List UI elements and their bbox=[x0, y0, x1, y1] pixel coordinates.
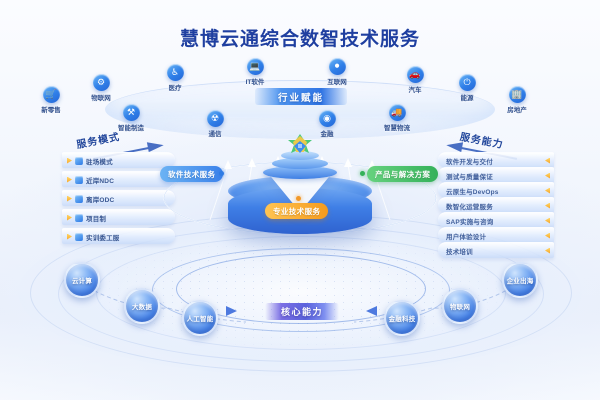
bullet-arrow-icon bbox=[545, 158, 550, 164]
signal-tower-icon: ☢ bbox=[207, 110, 224, 127]
tag-connector-dot-bottom bbox=[296, 196, 301, 201]
bullet-arrow-icon bbox=[545, 248, 550, 254]
building-icon: 🏢 bbox=[509, 86, 526, 103]
industry-node-smart-logistics[interactable]: 🚚 智慧物流 bbox=[370, 104, 424, 132]
tag-software-technical-service[interactable]: 软件技术服务 bbox=[160, 166, 223, 182]
puzzle-star-icon bbox=[285, 132, 315, 160]
location-icon bbox=[75, 176, 83, 184]
page-title: 慧博云通综合数智技术服务 bbox=[0, 24, 600, 51]
graduation-icon bbox=[75, 233, 83, 241]
truck-icon: 🚚 bbox=[389, 104, 406, 121]
service-capabilities-panel: 服务能力 软件开发与交付 测试与质量保证 云原生与DevOps 数智化运营服务 bbox=[438, 132, 550, 254]
stethoscope-icon: ♿ bbox=[167, 64, 184, 81]
bullet-arrow-icon bbox=[67, 215, 72, 221]
globe-icon bbox=[75, 195, 83, 203]
service-model-label: 项目制 bbox=[86, 213, 106, 223]
core-capability-banner: 核心能力 bbox=[265, 303, 339, 320]
service-model-label: 实训委工服 bbox=[86, 232, 120, 242]
bullet-arrow-icon bbox=[545, 173, 550, 179]
industry-node-communications[interactable]: ☢ 通信 bbox=[188, 110, 242, 138]
industry-node-energy[interactable]: ⏻ 能源 bbox=[440, 74, 494, 102]
service-capability-label: 技术培训 bbox=[446, 246, 473, 256]
bullet-arrow-icon bbox=[545, 188, 550, 194]
core-node-big-data[interactable]: 大数据 bbox=[122, 288, 162, 324]
industry-node-healthcare[interactable]: ♿ 医疗 bbox=[148, 64, 202, 92]
flag-icon bbox=[75, 157, 83, 165]
service-capability-item[interactable]: 测试与质量保证 bbox=[438, 167, 554, 183]
bullet-arrow-icon bbox=[67, 177, 72, 183]
industry-node-label: 医疗 bbox=[148, 82, 202, 92]
industry-node-label: IT软件 bbox=[228, 76, 282, 86]
core-node-fintech[interactable]: 金融科技 bbox=[382, 300, 422, 336]
core-node-going-global[interactable]: 企业出海 bbox=[500, 262, 540, 298]
service-model-label: 近岸NDC bbox=[86, 175, 114, 185]
robot-arm-icon: ⚒ bbox=[123, 104, 140, 121]
shopping-cart-icon: 🛒 bbox=[43, 86, 60, 103]
service-capability-item[interactable]: SAP实施与咨询 bbox=[438, 212, 554, 228]
service-capability-label: 云原生与DevOps bbox=[446, 186, 499, 196]
coin-icon: ◉ bbox=[319, 110, 336, 127]
bullet-arrow-icon bbox=[67, 158, 72, 164]
service-capabilities-list: 软件开发与交付 测试与质量保证 云原生与DevOps 数智化运营服务 SAP实施… bbox=[438, 152, 550, 256]
monitor-icon: 💻 bbox=[247, 58, 264, 75]
core-node-label: 云计算 bbox=[64, 262, 100, 298]
service-capability-item[interactable]: 软件开发与交付 bbox=[438, 152, 554, 168]
clipboard-icon bbox=[75, 214, 83, 222]
industry-node-new-retail[interactable]: 🛒 新零售 bbox=[24, 86, 78, 114]
network-node-icon: ⚙ bbox=[93, 74, 110, 91]
service-model-label: 驻场模式 bbox=[86, 156, 113, 166]
industry-node-label: 物联网 bbox=[74, 92, 128, 102]
industry-node-internet[interactable]: ⚫ 互联网 bbox=[310, 58, 364, 86]
industry-node-label: 互联网 bbox=[310, 76, 364, 86]
core-node-label: 人工智能 bbox=[182, 300, 218, 336]
industry-banner: 行业赋能 bbox=[255, 88, 347, 105]
bullet-arrow-icon bbox=[545, 233, 550, 239]
core-node-label: 企业出海 bbox=[502, 262, 538, 298]
bullet-arrow-icon bbox=[545, 203, 550, 209]
industry-node-label: 汽车 bbox=[388, 84, 442, 94]
service-capability-item[interactable]: 云原生与DevOps bbox=[438, 182, 554, 198]
industry-node-real-estate[interactable]: 🏢 房地产 bbox=[490, 86, 544, 114]
core-node-artificial-intelligence[interactable]: 人工智能 bbox=[180, 300, 220, 336]
industry-node-label: 通信 bbox=[188, 128, 242, 138]
service-model-label: 离岸ODC bbox=[86, 194, 114, 204]
service-capability-item[interactable]: 用户体验设计 bbox=[438, 227, 554, 243]
service-capability-label: 软件开发与交付 bbox=[446, 156, 493, 166]
tag-connector-dot-left bbox=[219, 171, 224, 176]
industry-node-label: 房地产 bbox=[490, 104, 544, 114]
industry-node-label: 新零售 bbox=[24, 104, 78, 114]
bullet-arrow-icon bbox=[67, 196, 72, 202]
tag-products-and-solutions[interactable]: 产品与解决方案 bbox=[367, 166, 438, 182]
core-arrow-left-to-center bbox=[226, 306, 237, 316]
battery-icon: ⏻ bbox=[459, 74, 476, 91]
core-node-label: 大数据 bbox=[124, 288, 160, 324]
bullet-arrow-icon bbox=[545, 218, 550, 224]
car-icon: 🚗 bbox=[407, 66, 424, 83]
service-capability-label: 用户体验设计 bbox=[446, 231, 486, 241]
industry-node-smart-manufacturing[interactable]: ⚒ 智能制造 bbox=[104, 104, 158, 132]
bullet-arrow-icon bbox=[67, 234, 72, 240]
core-node-label: 金融科技 bbox=[384, 300, 420, 336]
industry-node-automotive[interactable]: 🚗 汽车 bbox=[388, 66, 442, 94]
globe-icon: ⚫ bbox=[329, 58, 346, 75]
core-node-cloud-computing[interactable]: 云计算 bbox=[62, 262, 102, 298]
industry-node-label: 能源 bbox=[440, 92, 494, 102]
core-arrow-right-to-center bbox=[366, 306, 377, 316]
core-connector-lines bbox=[40, 258, 560, 334]
tag-professional-technical-service[interactable]: 专业技术服务 bbox=[265, 203, 328, 219]
industry-node-it-software[interactable]: 💻 IT软件 bbox=[228, 58, 282, 86]
core-node-iot[interactable]: 物联网 bbox=[440, 288, 480, 324]
service-capability-item[interactable]: 数智化运营服务 bbox=[438, 197, 554, 213]
core-node-label: 物联网 bbox=[442, 288, 478, 324]
tag-connector-dot-right bbox=[360, 171, 365, 176]
service-capability-label: 数智化运营服务 bbox=[446, 201, 493, 211]
service-capability-label: SAP实施与咨询 bbox=[446, 216, 493, 226]
industry-node-label: 智慧物流 bbox=[370, 122, 424, 132]
infographic-canvas: 慧博云通综合数智技术服务 🛒 新零售 ⚙ 物联网 ⚒ 智能制造 ♿ 医疗 ☢ 通… bbox=[0, 0, 600, 400]
industry-node-iot[interactable]: ⚙ 物联网 bbox=[74, 74, 128, 102]
service-capability-item[interactable]: 技术培训 bbox=[438, 242, 554, 258]
service-capability-label: 测试与质量保证 bbox=[446, 171, 493, 181]
